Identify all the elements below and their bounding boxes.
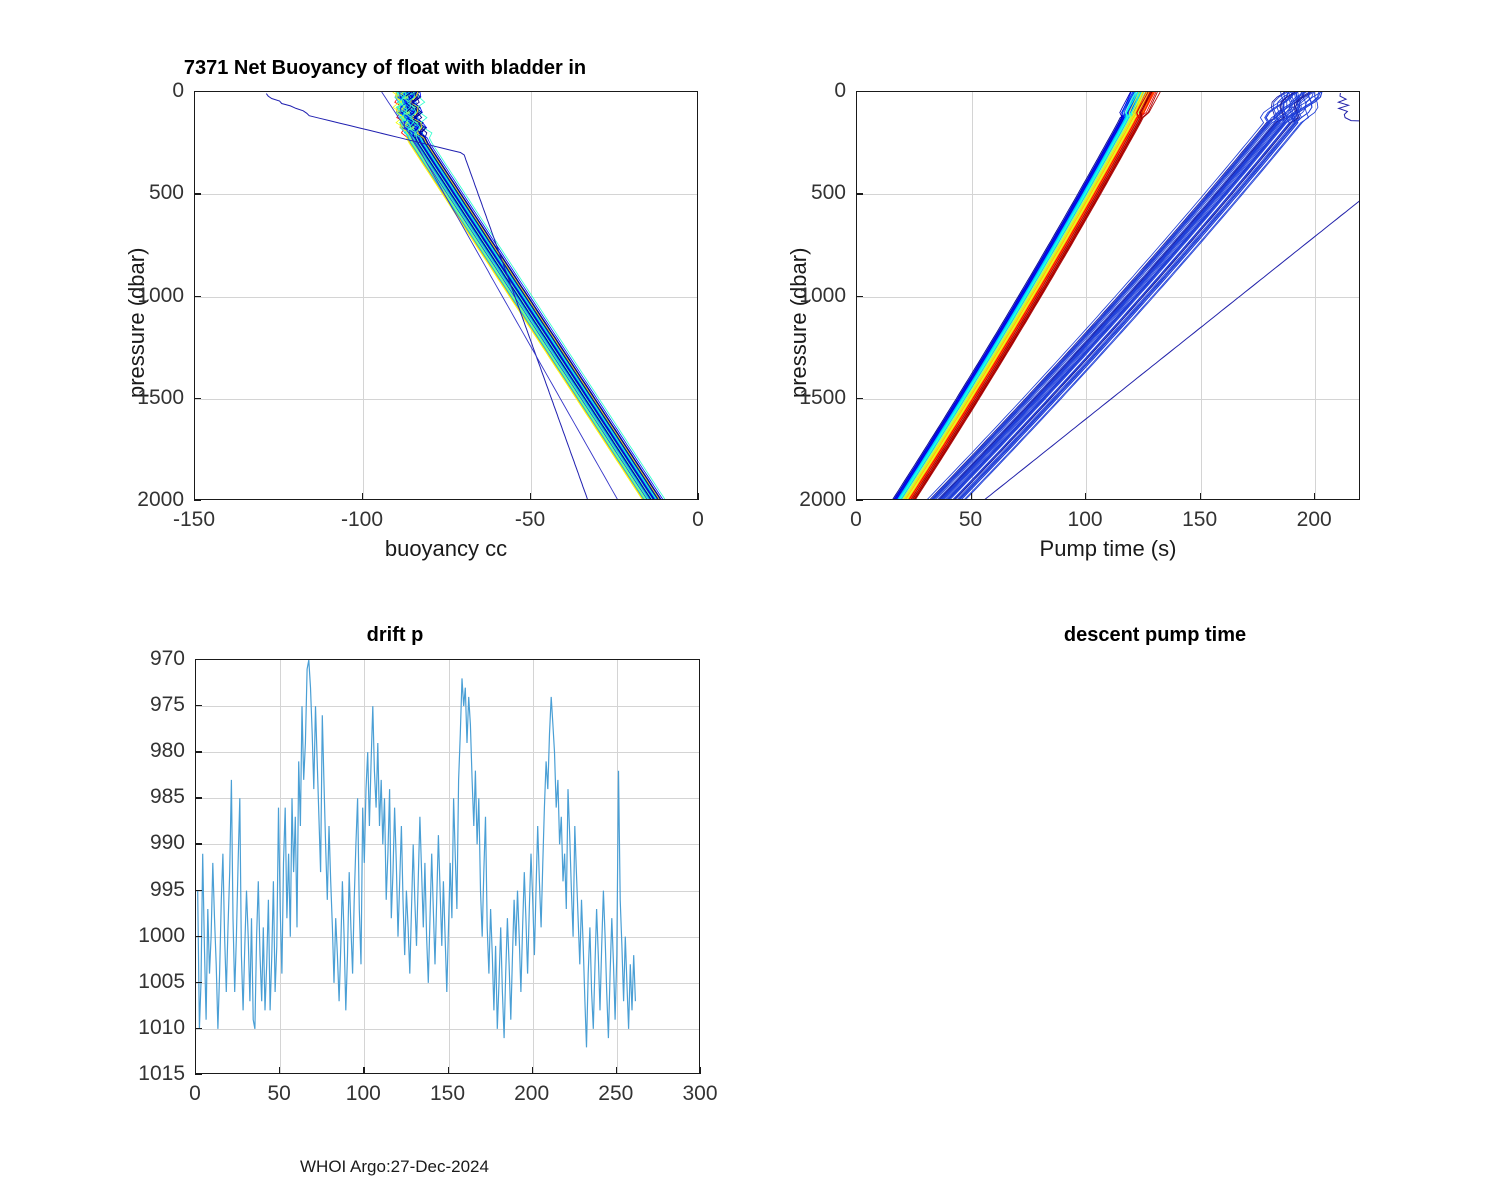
x-tick [532, 1067, 533, 1074]
y-tick [195, 797, 202, 798]
y-tick-label: 995 [95, 878, 185, 902]
x-tick-label: -100 [341, 508, 383, 532]
plot-area-net-buoyancy [194, 91, 698, 500]
x-tick-label: 200 [1297, 508, 1332, 532]
y-tick-label: 975 [95, 693, 185, 717]
data-line [894, 92, 1132, 500]
data-line [933, 92, 1287, 500]
x-tick [279, 1067, 280, 1074]
y-tick-label: 2000 [94, 488, 184, 512]
y-tick-label: 1000 [95, 924, 185, 948]
panel-pump-time: Pump time (s) pressure (dbar) 0501001502… [750, 0, 1500, 600]
plot-lines-drift-p [196, 660, 700, 1074]
y-tick [195, 982, 202, 983]
data-line [411, 92, 660, 500]
x-tick-label: 200 [514, 1082, 549, 1106]
y-tick [195, 1028, 202, 1029]
x-tick-label: 100 [1068, 508, 1103, 532]
x-tick [1200, 493, 1201, 500]
yaxis-label-pump-time: pressure (dbar) [786, 248, 812, 398]
y-tick-label: 500 [94, 181, 184, 205]
y-tick [195, 843, 202, 844]
x-tick [616, 1067, 617, 1074]
plot-lines-net-buoyancy [195, 92, 698, 500]
x-tick-label: 300 [682, 1082, 717, 1106]
x-tick [971, 493, 972, 500]
x-tick [362, 493, 363, 500]
y-tick [194, 296, 201, 297]
x-tick [856, 493, 857, 500]
panel-title-drift-p: drift p [80, 624, 710, 647]
y-tick [194, 500, 201, 501]
x-tick-label: 50 [959, 508, 982, 532]
panel-drift-p: drift p 05010015020025030097097598098599… [0, 600, 750, 1200]
x-tick-label: 0 [189, 1082, 201, 1106]
y-tick-label: 1005 [95, 970, 185, 994]
y-tick-label: 1000 [94, 284, 184, 308]
figure-root: 7371 Net Buoyancy of float with bladder … [0, 0, 1500, 1200]
x-tick-label: 150 [1182, 508, 1217, 532]
x-tick-label: 250 [598, 1082, 633, 1106]
x-tick-label: 0 [692, 508, 704, 532]
y-tick [195, 890, 202, 891]
panel-title-net-buoyancy: 7371 Net Buoyancy of float with bladder … [70, 57, 700, 80]
y-tick-label: 1010 [95, 1016, 185, 1040]
y-tick [856, 193, 863, 194]
y-tick [195, 1074, 202, 1075]
data-line [413, 92, 661, 500]
x-tick-label: 100 [346, 1082, 381, 1106]
x-tick [195, 1067, 196, 1074]
data-line [198, 660, 636, 1047]
y-tick-label: 1000 [756, 284, 846, 308]
x-tick [363, 1067, 364, 1074]
x-tick [1085, 493, 1086, 500]
x-tick [194, 493, 195, 500]
y-tick [195, 705, 202, 706]
y-tick-label: 1500 [94, 386, 184, 410]
y-tick-label: 500 [756, 181, 846, 205]
y-tick-label: 990 [95, 831, 185, 855]
x-tick [530, 493, 531, 500]
y-tick [856, 296, 863, 297]
y-tick-label: 0 [94, 79, 184, 103]
figure-footer: WHOI Argo:27-Dec-2024 [300, 1157, 489, 1177]
y-tick [856, 91, 863, 92]
x-tick-label: 50 [267, 1082, 290, 1106]
x-tick [448, 1067, 449, 1074]
y-tick [856, 500, 863, 501]
plot-area-drift-p [195, 659, 700, 1074]
panel-title-descent-pump-time: descent pump time [840, 624, 1470, 647]
xaxis-label-net-buoyancy: buoyancy cc [194, 536, 698, 562]
xaxis-label-pump-time: Pump time (s) [856, 536, 1360, 562]
x-tick [698, 493, 699, 500]
data-line [417, 92, 666, 500]
y-tick [195, 936, 202, 937]
yaxis-label-net-buoyancy: pressure (dbar) [124, 248, 150, 398]
data-line [412, 92, 662, 500]
y-tick-label: 0 [756, 79, 846, 103]
plot-lines-pump-time [857, 92, 1360, 500]
data-line [411, 92, 661, 500]
y-tick-label: 970 [95, 647, 185, 671]
panel-net-buoyancy: 7371 Net Buoyancy of float with bladder … [0, 0, 750, 600]
x-tick [700, 1067, 701, 1074]
y-tick-label: 980 [95, 739, 185, 763]
y-tick-label: 2000 [756, 488, 846, 512]
x-tick [1314, 493, 1315, 500]
data-line [413, 92, 664, 500]
y-tick-label: 1500 [756, 386, 846, 410]
data-line [960, 92, 1322, 500]
y-tick-label: 1015 [95, 1062, 185, 1086]
x-tick-label: 150 [430, 1082, 465, 1106]
panel-descent-pump-time: descent pump time 0501001502002503006070… [750, 600, 1500, 1200]
y-tick [194, 398, 201, 399]
y-tick [194, 193, 201, 194]
plot-area-pump-time [856, 91, 1360, 500]
x-tick-label: 0 [850, 508, 862, 532]
x-tick-label: -50 [515, 508, 545, 532]
y-tick [195, 751, 202, 752]
data-line [411, 92, 659, 500]
y-tick [195, 659, 202, 660]
y-tick-label: 985 [95, 785, 185, 809]
y-tick [194, 91, 201, 92]
y-tick [856, 398, 863, 399]
data-line [410, 92, 660, 500]
